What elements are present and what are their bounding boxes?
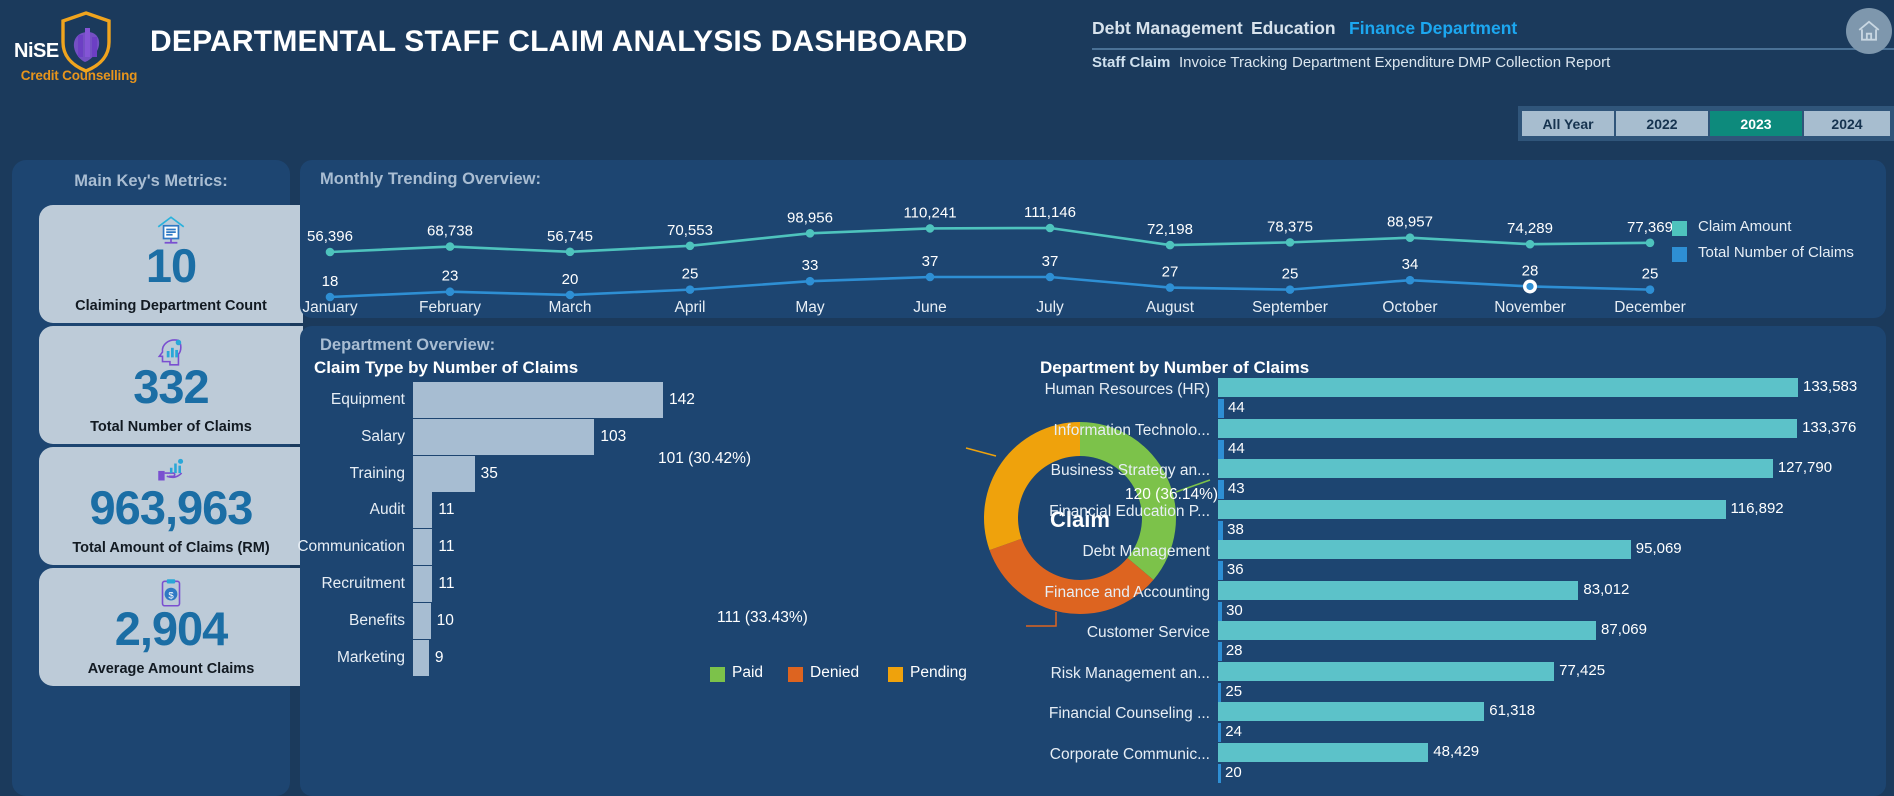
key-metrics-title: Main Key's Metrics: xyxy=(12,172,290,191)
dashboard-header: NiSE Credit Counselling DEPARTMENTAL STA… xyxy=(0,0,1894,130)
trend-point xyxy=(1406,233,1415,242)
department-bar-group[interactable]: Risk Management an...77,42525 xyxy=(1218,662,1838,702)
legend-label: Paid xyxy=(732,664,763,682)
trend-value-label: 37 xyxy=(922,253,939,270)
department-amount-value: 133,376 xyxy=(1802,419,1856,436)
claim-type-label: Salary xyxy=(361,428,405,446)
claim-type-bar xyxy=(413,419,594,455)
claim-type-bar-chart[interactable]: Equipment142Salary103Training35Audit11Co… xyxy=(413,382,813,782)
claim-type-label: Recruitment xyxy=(321,575,405,593)
trend-point xyxy=(446,287,455,296)
subnav-invoice-tracking[interactable]: Invoice Tracking xyxy=(1179,54,1287,71)
trend-value-label: 25 xyxy=(682,266,699,283)
trend-point xyxy=(1286,285,1295,294)
department-amount-value: 83,012 xyxy=(1583,581,1629,598)
kpi-value: 10 xyxy=(39,241,303,290)
claim-type-bar-row[interactable]: Communication11 xyxy=(413,529,713,565)
kpi-value: 963,963 xyxy=(39,483,303,532)
department-count-bar xyxy=(1218,440,1224,459)
kpi-card-total-number-of-claims[interactable]: 332 Total Number of Claims xyxy=(39,326,303,444)
trend-value-label: 37 xyxy=(1042,253,1059,270)
home-icon[interactable] xyxy=(1846,8,1892,54)
claim-type-label: Equipment xyxy=(331,391,405,409)
department-count-value: 20 xyxy=(1225,764,1242,781)
trend-point xyxy=(1526,240,1535,249)
claim-type-value: 9 xyxy=(435,649,444,667)
trend-value-label: 88,957 xyxy=(1387,214,1433,231)
trend-value-label: 110,241 xyxy=(903,204,956,221)
key-metrics-panel: Main Key's Metrics: 10 Claiming Departme… xyxy=(12,160,290,796)
department-bar-group[interactable]: Financial Education P...116,89238 xyxy=(1218,500,1838,540)
legend-label: Total Number of Claims xyxy=(1698,244,1854,261)
logo: NiSE Credit Counselling xyxy=(14,10,144,105)
claim-type-label: Audit xyxy=(370,501,405,519)
department-label: Finance and Accounting xyxy=(1045,584,1210,602)
claim-type-value: 103 xyxy=(600,428,626,446)
department-count-value: 44 xyxy=(1228,399,1245,416)
trend-point xyxy=(1166,283,1175,292)
department-amount-bar xyxy=(1218,743,1428,762)
legend-swatch xyxy=(788,667,803,682)
trend-value-label: 98,956 xyxy=(787,209,833,226)
department-bar-group[interactable]: Finance and Accounting83,01230 xyxy=(1218,581,1838,621)
department-bar-group[interactable]: Information Technolo...133,37644 xyxy=(1218,419,1838,459)
trend-value-label: 70,553 xyxy=(667,222,713,239)
department-amount-bar xyxy=(1218,662,1554,681)
claim-type-bar-row[interactable]: Marketing9 xyxy=(413,640,713,676)
kpi-label: Claiming Department Count xyxy=(39,298,303,314)
legend-label: Denied xyxy=(810,664,859,682)
trend-axis-label: August xyxy=(1146,299,1195,316)
department-count-value: 36 xyxy=(1227,561,1244,578)
department-amount-bar xyxy=(1218,500,1726,519)
trend-axis-label: April xyxy=(674,299,705,316)
department-amount-value: 61,318 xyxy=(1489,702,1535,719)
kpi-label: Total Amount of Claims (RM) xyxy=(39,540,303,556)
trend-point xyxy=(1166,241,1175,250)
trend-point xyxy=(686,285,695,294)
kpi-card-total-amount-of-claims[interactable]: 963,963 Total Amount of Claims (RM) xyxy=(39,447,303,565)
trend-value-label: 56,396 xyxy=(307,228,353,245)
claim-type-value: 11 xyxy=(438,575,454,593)
department-amount-value: 116,892 xyxy=(1731,500,1784,517)
department-bar-group[interactable]: Corporate Communic...48,42920 xyxy=(1218,743,1838,783)
trend-axis-label: February xyxy=(419,299,481,316)
trend-point xyxy=(1046,273,1055,282)
department-label: Human Resources (HR) xyxy=(1045,381,1210,399)
donut-label-denied: 111 (33.43%) xyxy=(717,609,808,627)
trend-value-label: 72,198 xyxy=(1147,221,1193,238)
subnav-dmp-collection-report[interactable]: DMP Collection Report xyxy=(1458,54,1610,71)
trend-value-label: 33 xyxy=(802,257,819,274)
trend-value-label: 74,289 xyxy=(1507,220,1553,237)
donut-label-pending: 101 (30.42%) xyxy=(658,450,751,468)
trend-value-label: 56,745 xyxy=(547,228,593,245)
department-bar-group[interactable]: Human Resources (HR)133,58344 xyxy=(1218,378,1838,418)
trend-point xyxy=(1646,239,1655,248)
department-chart-title: Department by Number of Claims xyxy=(1040,358,1309,378)
kpi-card-claiming-department-count[interactable]: 10 Claiming Department Count xyxy=(39,205,303,323)
claim-type-value: 142 xyxy=(669,391,695,409)
claim-type-bar-row[interactable]: Audit11 xyxy=(413,492,713,528)
year-option-2024[interactable]: 2024 xyxy=(1804,111,1890,136)
legend-swatch xyxy=(1672,221,1687,236)
trend-line-claim-amount xyxy=(330,228,1650,252)
trend-point xyxy=(1406,276,1415,285)
trend-point xyxy=(1646,285,1655,294)
trend-axis-label: May xyxy=(795,299,825,316)
claim-type-value: 35 xyxy=(481,465,498,483)
year-filter: All Year 2022 2023 2024 xyxy=(1518,106,1894,141)
trend-axis-label: January xyxy=(302,299,357,316)
kpi-label: Average Amount Claims xyxy=(39,661,303,677)
logo-tagline: Credit Counselling xyxy=(14,68,144,83)
department-count-value: 44 xyxy=(1228,440,1245,457)
department-amount-value: 87,069 xyxy=(1601,621,1647,638)
trend-value-label: 78,375 xyxy=(1267,218,1313,235)
kpi-card-average-amount-claims[interactable]: $ 2,904 Average Amount Claims xyxy=(39,568,303,686)
legend-swatch xyxy=(710,667,725,682)
claim-type-bar xyxy=(413,382,663,418)
claim-type-bar xyxy=(413,529,432,565)
department-amount-value: 48,429 xyxy=(1433,743,1479,760)
kpi-label: Total Number of Claims xyxy=(39,419,303,435)
department-count-bar xyxy=(1218,521,1223,540)
department-count-value: 24 xyxy=(1225,723,1242,740)
dashboard-root: NiSE Credit Counselling DEPARTMENTAL STA… xyxy=(0,0,1894,796)
department-amount-value: 77,425 xyxy=(1559,662,1605,679)
logo-brand: NiSE xyxy=(14,40,68,63)
trend-axis-label: December xyxy=(1614,299,1686,316)
department-amount-bar xyxy=(1218,378,1798,397)
department-label: Business Strategy an... xyxy=(1051,462,1210,480)
legend-label: Claim Amount xyxy=(1698,218,1791,235)
claim-type-chart-title: Claim Type by Number of Claims xyxy=(314,358,578,378)
legend-label: Pending xyxy=(910,664,967,682)
trend-axis-label: June xyxy=(913,299,947,316)
claim-type-label: Benefits xyxy=(349,612,405,630)
trend-point xyxy=(926,273,935,282)
department-overview-panel: Department Overview: Claim Type by Numbe… xyxy=(300,326,1886,796)
claim-type-bar-row[interactable]: Recruitment11 xyxy=(413,566,713,602)
monthly-trending-panel: Monthly Trending Overview: 56,39668,7385… xyxy=(300,160,1886,318)
trend-axis-label: November xyxy=(1494,299,1566,316)
department-label: Financial Counseling ... xyxy=(1049,705,1210,723)
department-amount-bar xyxy=(1218,581,1578,600)
department-count-value: 43 xyxy=(1228,480,1245,497)
trend-value-label: 77,369 xyxy=(1627,219,1673,236)
donut-label-paid: 120 (36.14%) xyxy=(1125,486,1218,504)
trend-point xyxy=(566,248,575,257)
trend-line-total-number-of-claims xyxy=(330,277,1650,297)
nav-divider xyxy=(1092,48,1894,50)
department-count-bar xyxy=(1218,683,1221,702)
trend-point xyxy=(1286,238,1295,247)
department-count-bar xyxy=(1218,399,1224,418)
claim-type-label: Training xyxy=(350,465,405,483)
legend-swatch xyxy=(1672,247,1687,262)
claim-type-bar xyxy=(413,603,431,639)
nav-finance-department[interactable]: Finance Department xyxy=(1349,18,1517,39)
page-title: DEPARTMENTAL STAFF CLAIM ANALYSIS DASHBO… xyxy=(150,22,970,62)
donut-slice-pending xyxy=(984,422,1080,550)
trend-value-label: 27 xyxy=(1162,264,1179,281)
department-amount-bar xyxy=(1218,419,1797,438)
trend-point xyxy=(566,291,575,300)
claim-type-bar xyxy=(413,456,475,492)
donut-leader-denied xyxy=(1026,612,1056,626)
monthly-trending-chart[interactable]: 56,39668,73856,74570,55398,956110,241111… xyxy=(300,160,1886,318)
claim-type-bar-row[interactable]: Equipment142 xyxy=(413,382,713,418)
department-label: Information Technolo... xyxy=(1053,422,1210,440)
department-bar-group[interactable]: Debt Management95,06936 xyxy=(1218,540,1838,580)
year-option-2023[interactable]: 2023 xyxy=(1710,111,1802,136)
trend-point xyxy=(326,248,335,257)
trend-point xyxy=(806,229,815,238)
claim-type-value: 10 xyxy=(437,612,454,630)
year-option-2022[interactable]: 2022 xyxy=(1616,111,1708,136)
department-amount-value: 133,583 xyxy=(1803,378,1857,395)
department-label: Debt Management xyxy=(1082,543,1210,561)
nav-debt-management[interactable]: Debt Management xyxy=(1092,18,1243,39)
claim-type-bar-row[interactable]: Benefits10 xyxy=(413,603,713,639)
trend-axis-label: October xyxy=(1382,299,1437,316)
department-amount-value: 95,069 xyxy=(1636,540,1682,557)
department-count-value: 38 xyxy=(1227,521,1244,538)
department-label: Financial Education P... xyxy=(1049,503,1210,521)
trend-axis-label: March xyxy=(548,299,591,316)
department-count-bar xyxy=(1218,561,1223,580)
department-count-bar xyxy=(1218,480,1224,499)
department-bar-group[interactable]: Business Strategy an...127,79043 xyxy=(1218,459,1838,499)
svg-text:$: $ xyxy=(168,590,174,601)
department-bar-chart[interactable]: Human Resources (HR)133,58344Information… xyxy=(1218,378,1858,788)
department-count-value: 30 xyxy=(1226,602,1243,619)
trend-point xyxy=(686,241,695,250)
department-count-bar xyxy=(1218,642,1222,661)
department-amount-bar xyxy=(1218,621,1596,640)
trend-axis-label: July xyxy=(1036,299,1064,316)
department-label: Corporate Communic... xyxy=(1050,746,1210,764)
nav-education[interactable]: Education xyxy=(1251,18,1336,39)
claim-type-value: 11 xyxy=(438,501,454,519)
department-bar-group[interactable]: Financial Counseling ...61,31824 xyxy=(1218,702,1838,742)
legend-swatch xyxy=(888,667,903,682)
subnav-department-expenditure[interactable]: Department Expenditure xyxy=(1292,54,1455,71)
claim-type-bar xyxy=(413,492,432,528)
department-overview-title: Department Overview: xyxy=(320,336,495,355)
trend-value-label: 111,146 xyxy=(1024,204,1076,221)
trend-value-label: 28 xyxy=(1522,262,1539,279)
trend-value-label: 18 xyxy=(322,273,339,290)
kpi-value: 2,904 xyxy=(39,604,303,653)
subnav-staff-claim[interactable]: Staff Claim xyxy=(1092,54,1170,71)
trend-value-label: 23 xyxy=(442,268,459,285)
department-label: Customer Service xyxy=(1087,624,1210,642)
trend-value-label: 20 xyxy=(562,271,579,288)
trend-value-label: 25 xyxy=(1282,266,1299,283)
department-amount-value: 127,790 xyxy=(1778,459,1832,476)
claim-type-bar xyxy=(413,566,432,602)
trend-point xyxy=(806,277,815,286)
department-amount-bar xyxy=(1218,459,1773,478)
trend-point xyxy=(446,242,455,251)
department-amount-bar xyxy=(1218,540,1631,559)
department-label: Risk Management an... xyxy=(1051,665,1210,683)
department-bar-group[interactable]: Customer Service87,06928 xyxy=(1218,621,1838,661)
claim-type-bar xyxy=(413,640,429,676)
year-option-all-year[interactable]: All Year xyxy=(1522,111,1614,136)
trend-point xyxy=(1046,224,1055,233)
claim-type-value: 11 xyxy=(438,538,454,556)
primary-nav: Debt Management Education Finance Depart… xyxy=(1092,18,1552,50)
kpi-value: 332 xyxy=(39,362,303,411)
trend-value-label: 34 xyxy=(1402,256,1419,273)
department-count-bar xyxy=(1218,602,1222,621)
trend-axis-label: September xyxy=(1252,299,1328,316)
trend-value-label: 68,738 xyxy=(427,223,473,240)
trend-value-label: 25 xyxy=(1642,266,1659,283)
department-amount-bar xyxy=(1218,702,1484,721)
department-count-value: 28 xyxy=(1226,642,1243,659)
claim-type-label: Communication xyxy=(297,538,405,556)
department-count-value: 25 xyxy=(1225,683,1242,700)
department-count-bar xyxy=(1218,723,1221,742)
donut-leader-pending xyxy=(966,448,996,456)
department-count-bar xyxy=(1218,764,1221,783)
claim-type-label: Marketing xyxy=(337,649,405,667)
trend-point xyxy=(926,224,935,233)
